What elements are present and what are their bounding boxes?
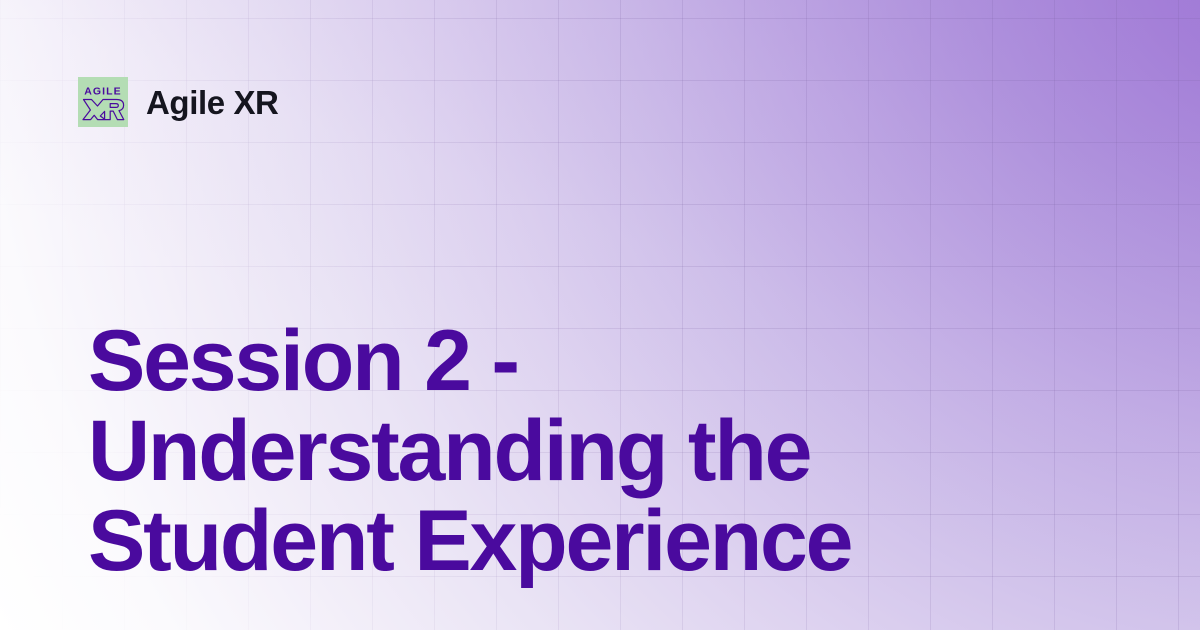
svg-text:AGILE: AGILE (84, 86, 122, 98)
page-title: Session 2 - Understanding the Student Ex… (88, 316, 1088, 586)
slide-canvas: AGILE Agile XR Session 2 - Understanding… (0, 0, 1200, 630)
agile-xr-logo-icon: AGILE (78, 77, 128, 127)
brand-name: Agile XR (146, 86, 279, 119)
page-title-line-2: Understanding the (88, 406, 1088, 496)
brand-lockup: AGILE Agile XR (78, 77, 279, 127)
page-title-line-1: Session 2 - (88, 316, 1088, 406)
page-title-line-3: Student Experience (88, 496, 1088, 586)
